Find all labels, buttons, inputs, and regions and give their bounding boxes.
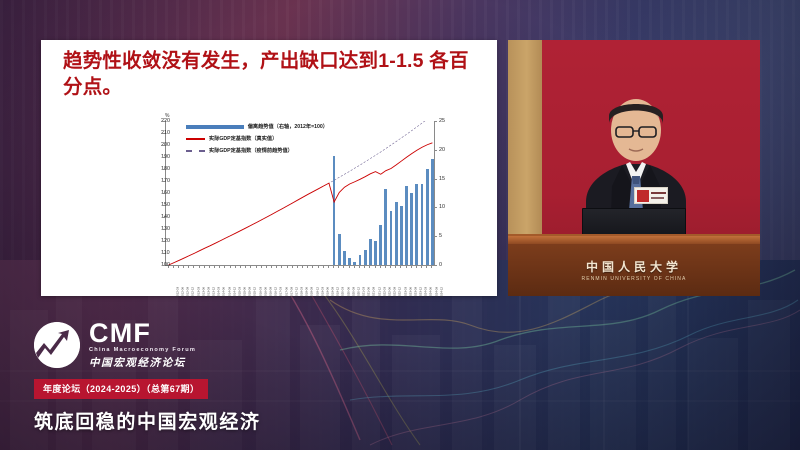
- left-axis-tick-mark: [162, 253, 165, 254]
- x-axis-tick-mark: [385, 266, 386, 268]
- x-axis-tick-mark: [235, 266, 236, 268]
- x-axis-tick-mark: [240, 266, 241, 268]
- right-axis-tick-label: 25: [439, 118, 445, 124]
- x-axis-tick-mark: [214, 266, 215, 268]
- x-axis-tick-mark: [395, 266, 396, 268]
- x-axis-tick-label: 2019-06: [326, 287, 330, 298]
- badge-seal-icon: [637, 190, 649, 202]
- trend-line-path: [169, 121, 433, 265]
- right-axis-tick-label: 15: [439, 176, 445, 182]
- x-axis-tick-label: 2018-06: [305, 287, 309, 298]
- x-axis-tick-mark: [354, 266, 355, 268]
- right-axis-tick-label: 20: [439, 147, 445, 153]
- x-axis-tick-label: 2023-09: [414, 287, 418, 298]
- x-axis-tick-label: 2020-12: [357, 287, 361, 298]
- x-axis-tick-label: 2012-12: [191, 287, 195, 298]
- left-axis-tick-mark: [162, 169, 165, 170]
- x-axis-tick-label: 2015-12: [253, 287, 257, 298]
- right-axis-tick-mark: [434, 179, 437, 180]
- x-axis-tick-label: 2024-06: [429, 287, 433, 298]
- x-axis-tick-label: 2017-12: [295, 287, 299, 298]
- left-axis-tick-mark: [162, 217, 165, 218]
- x-axis-tick-mark: [416, 266, 417, 268]
- x-axis-tick-mark: [328, 266, 329, 268]
- x-axis-tick-label: 2023-03: [403, 287, 407, 298]
- x-axis-tick-mark: [426, 266, 427, 268]
- x-axis-tick-mark: [323, 266, 324, 268]
- x-axis-tick-mark: [338, 266, 339, 268]
- x-axis-tick-mark: [204, 266, 205, 268]
- x-axis-tick-label: 2013-09: [207, 287, 211, 298]
- x-axis-tick-label: 2012-09: [186, 287, 190, 298]
- x-axis-tick-label: 2018-09: [310, 287, 314, 298]
- x-axis-tick-label: 2012-03: [176, 287, 180, 298]
- logo-text-block: CMF China Macroeconomy Forum 中国宏观经济论坛: [89, 320, 196, 370]
- left-axis-tick-mark: [162, 181, 165, 182]
- x-axis-tick-mark: [276, 266, 277, 268]
- presentation-slide: 趋势性收敛没有发生，产出缺口达到1-1.5 各百分点。 % 偏离趋势值（右轴，2…: [41, 40, 497, 296]
- podium: 中国人民大学 RENMIN UNIVERSITY OF CHINA: [508, 234, 760, 296]
- x-axis-tick-mark: [245, 266, 246, 268]
- x-axis-tick-mark: [292, 266, 293, 268]
- podium-top-edge: [508, 236, 760, 244]
- left-axis-tick-mark: [162, 193, 165, 194]
- x-axis-tick-label: 2018-12: [315, 287, 319, 298]
- x-axis-tick-mark: [400, 266, 401, 268]
- x-axis-tick-mark: [209, 266, 210, 268]
- x-axis-tick-label: 2013-06: [201, 287, 205, 298]
- x-axis-tick-mark: [256, 266, 257, 268]
- x-axis-tick-label: 2016-06: [263, 287, 267, 298]
- x-axis-tick-label: 2020-06: [346, 287, 350, 298]
- x-axis-tick-mark: [261, 266, 262, 268]
- x-axis-tick-label: 2012-06: [181, 287, 185, 298]
- actual-line-path: [169, 143, 433, 265]
- x-axis-tick-mark: [411, 266, 412, 268]
- logo-row: CMF China Macroeconomy Forum 中国宏观经济论坛: [34, 320, 454, 370]
- right-axis-tick-mark: [434, 207, 437, 208]
- x-axis-tick-mark: [307, 266, 308, 268]
- x-axis-tick-label: 2019-12: [336, 287, 340, 298]
- x-axis-tick-mark: [312, 266, 313, 268]
- x-axis-tick-label: 2017-09: [289, 287, 293, 298]
- x-axis-tick-label: 2022-12: [398, 287, 402, 298]
- left-axis-tick-mark: [162, 229, 165, 230]
- logo-cmf-text: CMF: [89, 320, 196, 346]
- x-axis-tick-label: 2024-09: [434, 287, 438, 298]
- x-axis-tick-mark: [364, 266, 365, 268]
- left-axis-tick-mark: [162, 133, 165, 134]
- slide-title: 趋势性收敛没有发生，产出缺口达到1-1.5 各百分点。: [63, 48, 483, 100]
- x-axis-tick-label: 2019-09: [331, 287, 335, 298]
- x-axis-tick-label: 2015-09: [248, 287, 252, 298]
- x-axis-tick-mark: [219, 266, 220, 268]
- x-axis-tick-mark: [343, 266, 344, 268]
- x-axis-tick-mark: [188, 266, 189, 268]
- logo-english-text: China Macroeconomy Forum: [89, 347, 196, 353]
- x-axis-tick-label: 2016-03: [258, 287, 262, 298]
- right-axis-tick-mark: [434, 150, 437, 151]
- x-axis-tick-label: 2022-03: [382, 287, 386, 298]
- x-axis-ticks: 2012-032012-062012-092012-122013-032013-…: [165, 266, 435, 288]
- x-axis-tick-label: 2022-09: [393, 287, 397, 298]
- x-axis-tick-label: 2016-09: [269, 287, 273, 298]
- x-axis-tick-label: 2024-12: [439, 287, 443, 298]
- x-axis-tick-mark: [183, 266, 184, 268]
- x-axis-tick-label: 2020-03: [341, 287, 345, 298]
- x-axis-tick-label: 2014-03: [217, 287, 221, 298]
- x-axis-tick-label: 2023-06: [408, 287, 412, 298]
- x-axis-tick-mark: [281, 266, 282, 268]
- x-axis-tick-label: 2021-12: [377, 287, 381, 298]
- x-axis-tick-mark: [250, 266, 251, 268]
- x-axis-tick-mark: [390, 266, 391, 268]
- x-axis-tick-mark: [224, 266, 225, 268]
- x-axis-tick-label: 2019-03: [320, 287, 324, 298]
- x-axis-tick-mark: [271, 266, 272, 268]
- x-axis-tick-label: 2020-09: [351, 287, 355, 298]
- x-axis-tick-mark: [375, 266, 376, 268]
- x-axis-tick-mark: [406, 266, 407, 268]
- x-axis-tick-label: 2013-03: [196, 287, 200, 298]
- right-axis-tick-label: 10: [439, 204, 445, 210]
- x-axis-tick-label: 2021-03: [362, 287, 366, 298]
- x-axis-tick-mark: [431, 266, 432, 268]
- badge-text-line-1: [651, 192, 666, 194]
- x-axis-tick-mark: [369, 266, 370, 268]
- x-axis-tick-mark: [230, 266, 231, 268]
- x-axis-tick-label: 2014-09: [227, 287, 231, 298]
- x-axis-tick-mark: [359, 266, 360, 268]
- x-axis-tick-label: 2017-06: [284, 287, 288, 298]
- x-axis-tick-mark: [168, 266, 169, 268]
- chart-plot-area: [165, 121, 435, 266]
- x-axis-tick-label: 2013-12: [212, 287, 216, 298]
- logo-chinese-text: 中国宏观经济论坛: [89, 355, 196, 370]
- x-axis-tick-mark: [193, 266, 194, 268]
- left-axis-tick-mark: [162, 241, 165, 242]
- x-axis-tick-mark: [349, 266, 350, 268]
- x-axis-tick-label: 2014-12: [232, 287, 236, 298]
- screen: 趋势性收敛没有发生，产出缺口达到1-1.5 各百分点。 % 偏离趋势值（右轴，2…: [0, 0, 800, 450]
- speaker-video-panel[interactable]: 中国人民大学 RENMIN UNIVERSITY OF CHINA: [508, 40, 760, 296]
- left-axis-tick-mark: [162, 205, 165, 206]
- x-axis-tick-mark: [421, 266, 422, 268]
- event-headline: 筑底回稳的中国宏观经济: [34, 407, 454, 434]
- forum-session-badge: 年度论坛（2024-2025）（总第67期）: [34, 379, 208, 399]
- x-axis-tick-mark: [302, 266, 303, 268]
- x-axis-tick-label: 2016-12: [274, 287, 278, 298]
- x-axis-tick-mark: [173, 266, 174, 268]
- x-axis-tick-label: 2021-06: [367, 287, 371, 298]
- right-axis-tick-label: 0: [439, 262, 442, 268]
- x-axis-tick-label: 2018-03: [300, 287, 304, 298]
- x-axis-tick-label: 2015-03: [238, 287, 242, 298]
- podium-label-cn: 中国人民大学: [508, 258, 760, 275]
- x-axis-tick-mark: [297, 266, 298, 268]
- badge-text-line-2: [651, 197, 664, 199]
- x-axis-tick-label: 2021-09: [372, 287, 376, 298]
- podium-label-en: RENMIN UNIVERSITY OF CHINA: [508, 276, 760, 282]
- x-axis-tick-mark: [380, 266, 381, 268]
- left-axis-tick-mark: [162, 157, 165, 158]
- x-axis-tick-label: 2022-06: [388, 287, 392, 298]
- x-axis-tick-label: 2017-03: [279, 287, 283, 298]
- x-axis-tick-label: 2015-06: [243, 287, 247, 298]
- right-axis-tick-label: 5: [439, 233, 442, 239]
- gdp-deviation-chart: % 偏离趋势值（右轴，2012年=100） 实际GDP定基指数（真实值） 实际G…: [141, 113, 461, 288]
- right-axis-tick-mark: [434, 236, 437, 237]
- x-axis-tick-mark: [318, 266, 319, 268]
- x-axis-tick-mark: [266, 266, 267, 268]
- right-axis-tick-mark: [434, 121, 437, 122]
- x-axis-tick-mark: [178, 266, 179, 268]
- event-branding: CMF China Macroeconomy Forum 中国宏观经济论坛 年度…: [34, 320, 454, 434]
- left-axis-tick-mark: [162, 121, 165, 122]
- x-axis-tick-label: 2023-12: [419, 287, 423, 298]
- x-axis-tick-mark: [333, 266, 334, 268]
- x-axis-tick-label: 2014-06: [222, 287, 226, 298]
- line-series: [166, 121, 435, 265]
- speaker-name-badge: [634, 187, 668, 204]
- x-axis-tick-mark: [199, 266, 200, 268]
- x-axis-tick-label: 2024-03: [424, 287, 428, 298]
- x-axis-tick-mark: [287, 266, 288, 268]
- left-axis-tick-mark: [162, 145, 165, 146]
- cmf-logo-icon: [34, 322, 80, 368]
